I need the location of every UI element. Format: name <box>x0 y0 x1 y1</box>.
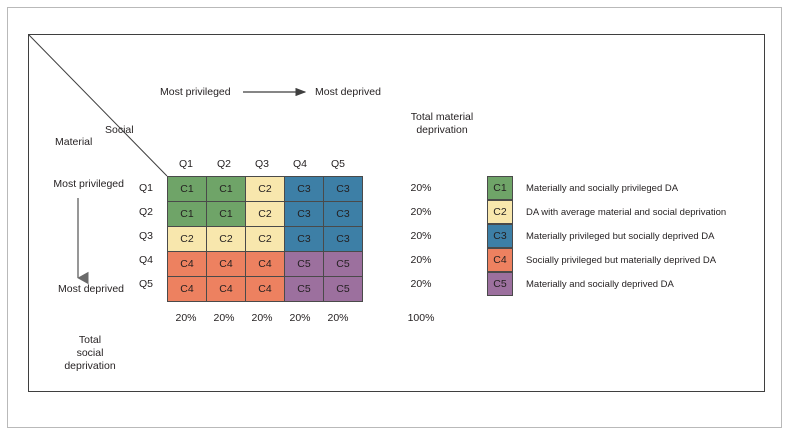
matrix-cell-q1-q3: C2 <box>246 177 285 202</box>
legend-swatch-c5: C5 <box>487 272 513 296</box>
legend-label-c5: Materially and socially deprived DA <box>526 279 674 290</box>
row-header-q1: Q1 <box>131 176 161 200</box>
row-header-q3: Q3 <box>131 224 161 248</box>
top-axis-start-label: Most privileged <box>160 86 231 98</box>
legend-item-c4: C4Socially privileged but materially dep… <box>487 248 726 272</box>
grand-total: 100% <box>398 312 444 324</box>
column-header-q2: Q2 <box>205 158 243 170</box>
column-total-q4: 20% <box>281 312 319 324</box>
matrix-cell-q4-q3: C4 <box>246 252 285 277</box>
left-axis-end-label: Most deprived <box>0 283 124 296</box>
legend: C1Materially and socially privileged DAC… <box>487 176 726 296</box>
legend-label-c4: Socially privileged but materially depri… <box>526 255 716 266</box>
matrix-cell-q2-q2: C1 <box>207 202 246 227</box>
total-social-deprivation-label: Total social deprivation <box>30 334 150 373</box>
legend-label-c3: Materially privileged but socially depri… <box>526 231 715 242</box>
deprivation-matrix: C1C1C2C3C3C1C1C2C3C3C2C2C2C3C3C4C4C4C5C5… <box>167 176 363 302</box>
matrix-cell-q3-q4: C3 <box>285 227 324 252</box>
matrix-body: C1C1C2C3C3C1C1C2C3C3C2C2C2C3C3C4C4C4C5C5… <box>168 177 363 302</box>
column-header-q1: Q1 <box>167 158 205 170</box>
matrix-cell-q4-q5: C5 <box>324 252 363 277</box>
column-total-q5: 20% <box>319 312 357 324</box>
row-header-q4: Q4 <box>131 248 161 272</box>
total-material-deprivation-label: Total material deprivation <box>382 111 502 137</box>
matrix-cell-q3-q2: C2 <box>207 227 246 252</box>
column-total-q2: 20% <box>205 312 243 324</box>
matrix-row: C1C1C2C3C3 <box>168 177 363 202</box>
column-total-q3: 20% <box>243 312 281 324</box>
row-total-q2: 20% <box>398 200 444 224</box>
matrix-cell-q5-q1: C4 <box>168 277 207 302</box>
legend-swatch-c3: C3 <box>487 224 513 248</box>
left-axis-start-label: Most privileged <box>0 178 124 191</box>
matrix-cell-q1-q5: C3 <box>324 177 363 202</box>
matrix-cell-q3-q3: C2 <box>246 227 285 252</box>
matrix-cell-q5-q4: C5 <box>285 277 324 302</box>
top-axis-caption: Most privileged Most deprived <box>160 85 410 101</box>
row-header-q2: Q2 <box>131 200 161 224</box>
material-dimension-label: Material <box>55 136 92 149</box>
matrix-cell-q2-q1: C1 <box>168 202 207 227</box>
matrix-cell-q5-q2: C4 <box>207 277 246 302</box>
legend-item-c2: C2DA with average material and social de… <box>487 200 726 224</box>
row-total-q1: 20% <box>398 176 444 200</box>
matrix-row: C4C4C4C5C5 <box>168 277 363 302</box>
matrix-row: C1C1C2C3C3 <box>168 202 363 227</box>
matrix-cell-q2-q5: C3 <box>324 202 363 227</box>
legend-swatch-c2: C2 <box>487 200 513 224</box>
column-header-q3: Q3 <box>243 158 281 170</box>
social-dimension-label: Social <box>105 124 134 137</box>
row-total-q3: 20% <box>398 224 444 248</box>
row-total-q5: 20% <box>398 272 444 296</box>
row-header-q5: Q5 <box>131 272 161 296</box>
legend-item-c1: C1Materially and socially privileged DA <box>487 176 726 200</box>
matrix-cell-q4-q1: C4 <box>168 252 207 277</box>
matrix-cell-q5-q5: C5 <box>324 277 363 302</box>
matrix-cell-q1-q4: C3 <box>285 177 324 202</box>
matrix-cell-q5-q3: C4 <box>246 277 285 302</box>
column-header-q5: Q5 <box>319 158 357 170</box>
matrix-cell-q2-q4: C3 <box>285 202 324 227</box>
legend-item-c5: C5Materially and socially deprived DA <box>487 272 726 296</box>
legend-swatch-c4: C4 <box>487 248 513 272</box>
matrix-cell-q1-q1: C1 <box>168 177 207 202</box>
column-header-q4: Q4 <box>281 158 319 170</box>
column-total-q1: 20% <box>167 312 205 324</box>
row-total-q4: 20% <box>398 248 444 272</box>
legend-label-c1: Materially and socially privileged DA <box>526 183 678 194</box>
matrix-cell-q3-q5: C3 <box>324 227 363 252</box>
legend-swatch-c1: C1 <box>487 176 513 200</box>
matrix-cell-q4-q2: C4 <box>207 252 246 277</box>
legend-label-c2: DA with average material and social depr… <box>526 207 726 218</box>
matrix-cell-q3-q1: C2 <box>168 227 207 252</box>
deprivation-matrix-figure: Most privileged Most deprived Material S… <box>0 0 791 437</box>
legend-item-c3: C3Materially privileged but socially dep… <box>487 224 726 248</box>
matrix-row: C4C4C4C5C5 <box>168 252 363 277</box>
matrix-cell-q2-q3: C2 <box>246 202 285 227</box>
matrix-cell-q1-q2: C1 <box>207 177 246 202</box>
matrix-cell-q4-q4: C5 <box>285 252 324 277</box>
matrix-row: C2C2C2C3C3 <box>168 227 363 252</box>
top-axis-end-label: Most deprived <box>315 86 381 98</box>
